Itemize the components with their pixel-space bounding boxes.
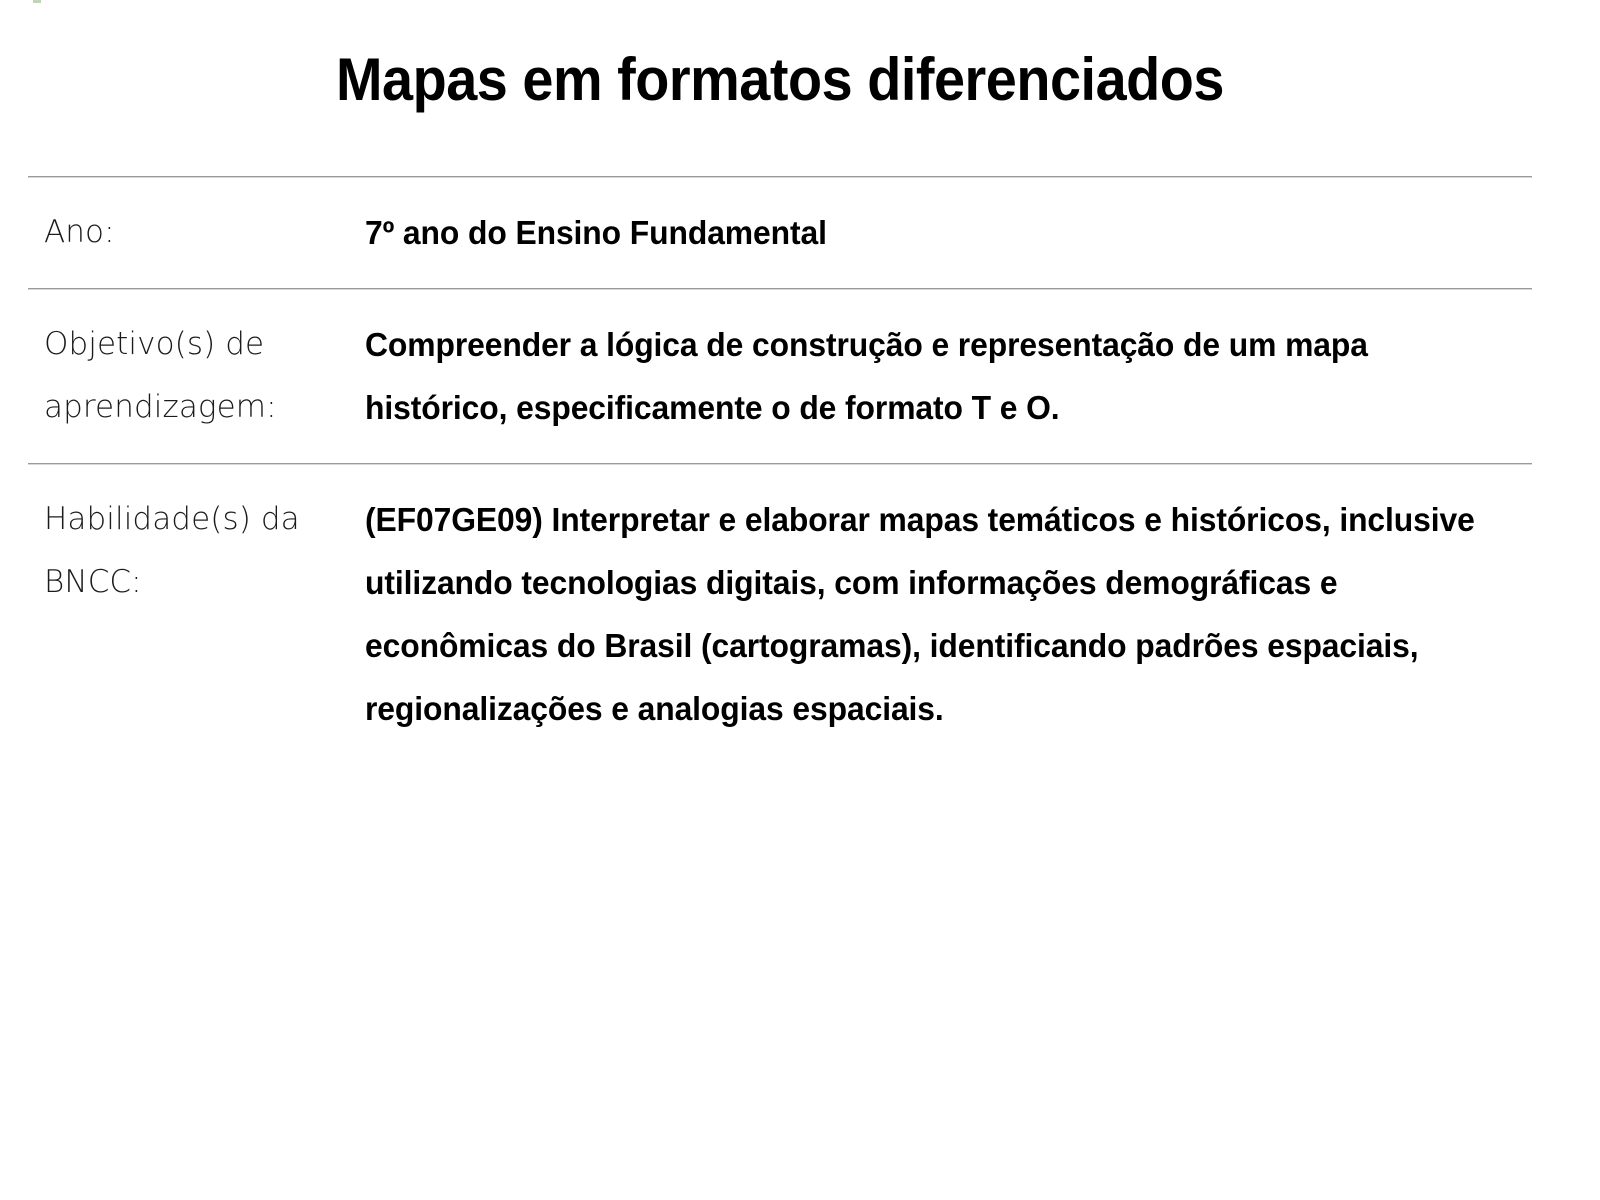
top-edge-artifact xyxy=(33,0,41,3)
lesson-plan-page: Mapas em formatos diferenciados Ano: 7º … xyxy=(0,0,1600,1200)
table-row: Ano: 7º ano do Ensino Fundamental xyxy=(28,177,1532,288)
lesson-info-table: Ano: 7º ano do Ensino Fundamental Objeti… xyxy=(28,176,1532,1134)
row-label-objetivos: Objetivo(s) de aprendizagem: xyxy=(28,313,365,439)
row-label-habilidades-bncc: Habilidade(s) da BNCC: xyxy=(28,488,365,614)
page-bottom-whitespace xyxy=(28,794,1532,1134)
row-value-ano: 7º ano do Ensino Fundamental xyxy=(365,201,1484,264)
table-row: Objetivo(s) de aprendizagem: Compreender… xyxy=(28,289,1532,463)
row-value-objetivos: Compreender a lógica de construção e rep… xyxy=(365,313,1484,439)
row-value-habilidades-bncc: (EF07GE09) Interpretar e elaborar mapas … xyxy=(365,488,1484,740)
page-title: Mapas em formatos diferenciados xyxy=(81,44,1480,116)
row-label-ano: Ano: xyxy=(28,201,365,264)
table-row: Habilidade(s) da BNCC: (EF07GE09) Interp… xyxy=(28,464,1532,794)
